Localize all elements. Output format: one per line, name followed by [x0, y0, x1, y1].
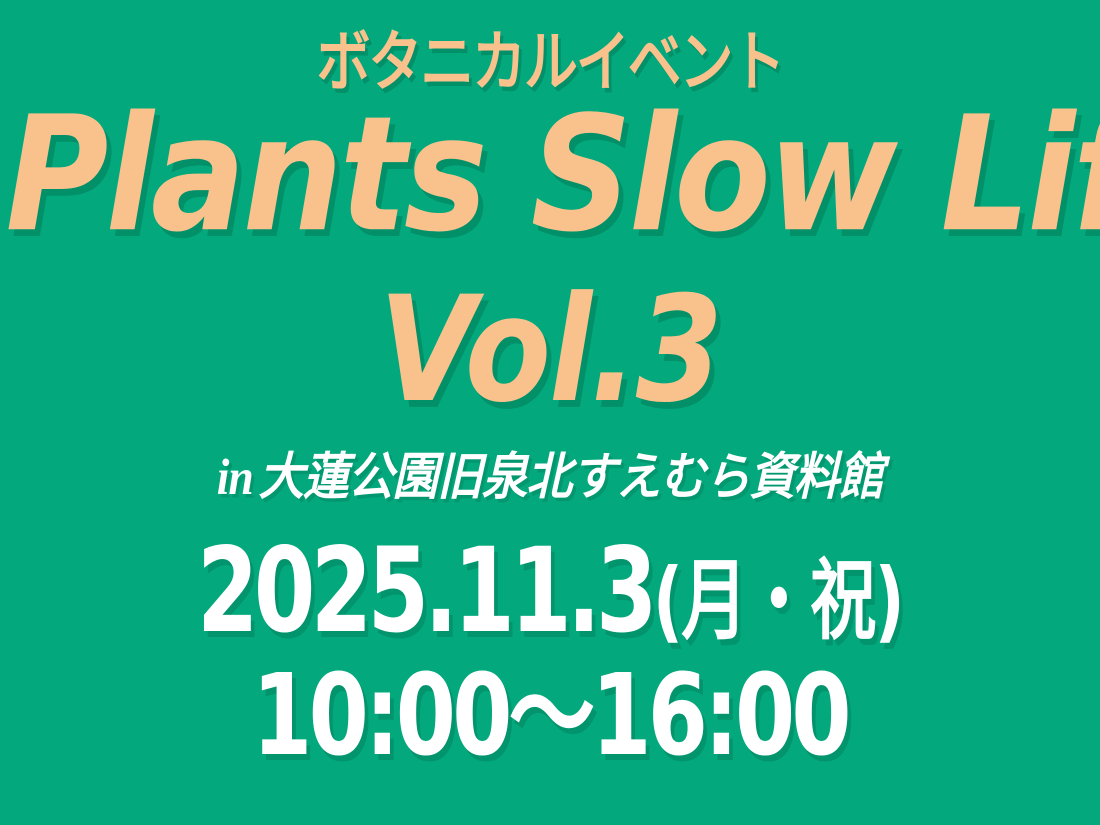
event-date: 2025.11.3(月・祝) — [44, 532, 1056, 649]
event-time-range: 10:00〜16:00 — [33, 660, 1067, 772]
event-poster: ボタニカルイベント Plants Slow Life Vol.3 in大蓮公園旧… — [0, 0, 1100, 825]
event-venue: in大蓮公園旧泉北すえむら資料館 — [17, 452, 1084, 504]
event-volume: Vol.3 — [11, 278, 1089, 424]
venue-name: 大蓮公園旧泉北すえむら資料館 — [259, 448, 884, 507]
event-date-value: 2025.11.3 — [197, 522, 653, 659]
venue-prefix: in — [217, 450, 259, 506]
event-title: Plants Slow Life — [6, 96, 1095, 255]
event-date-weekday: (月・祝) — [653, 549, 903, 651]
